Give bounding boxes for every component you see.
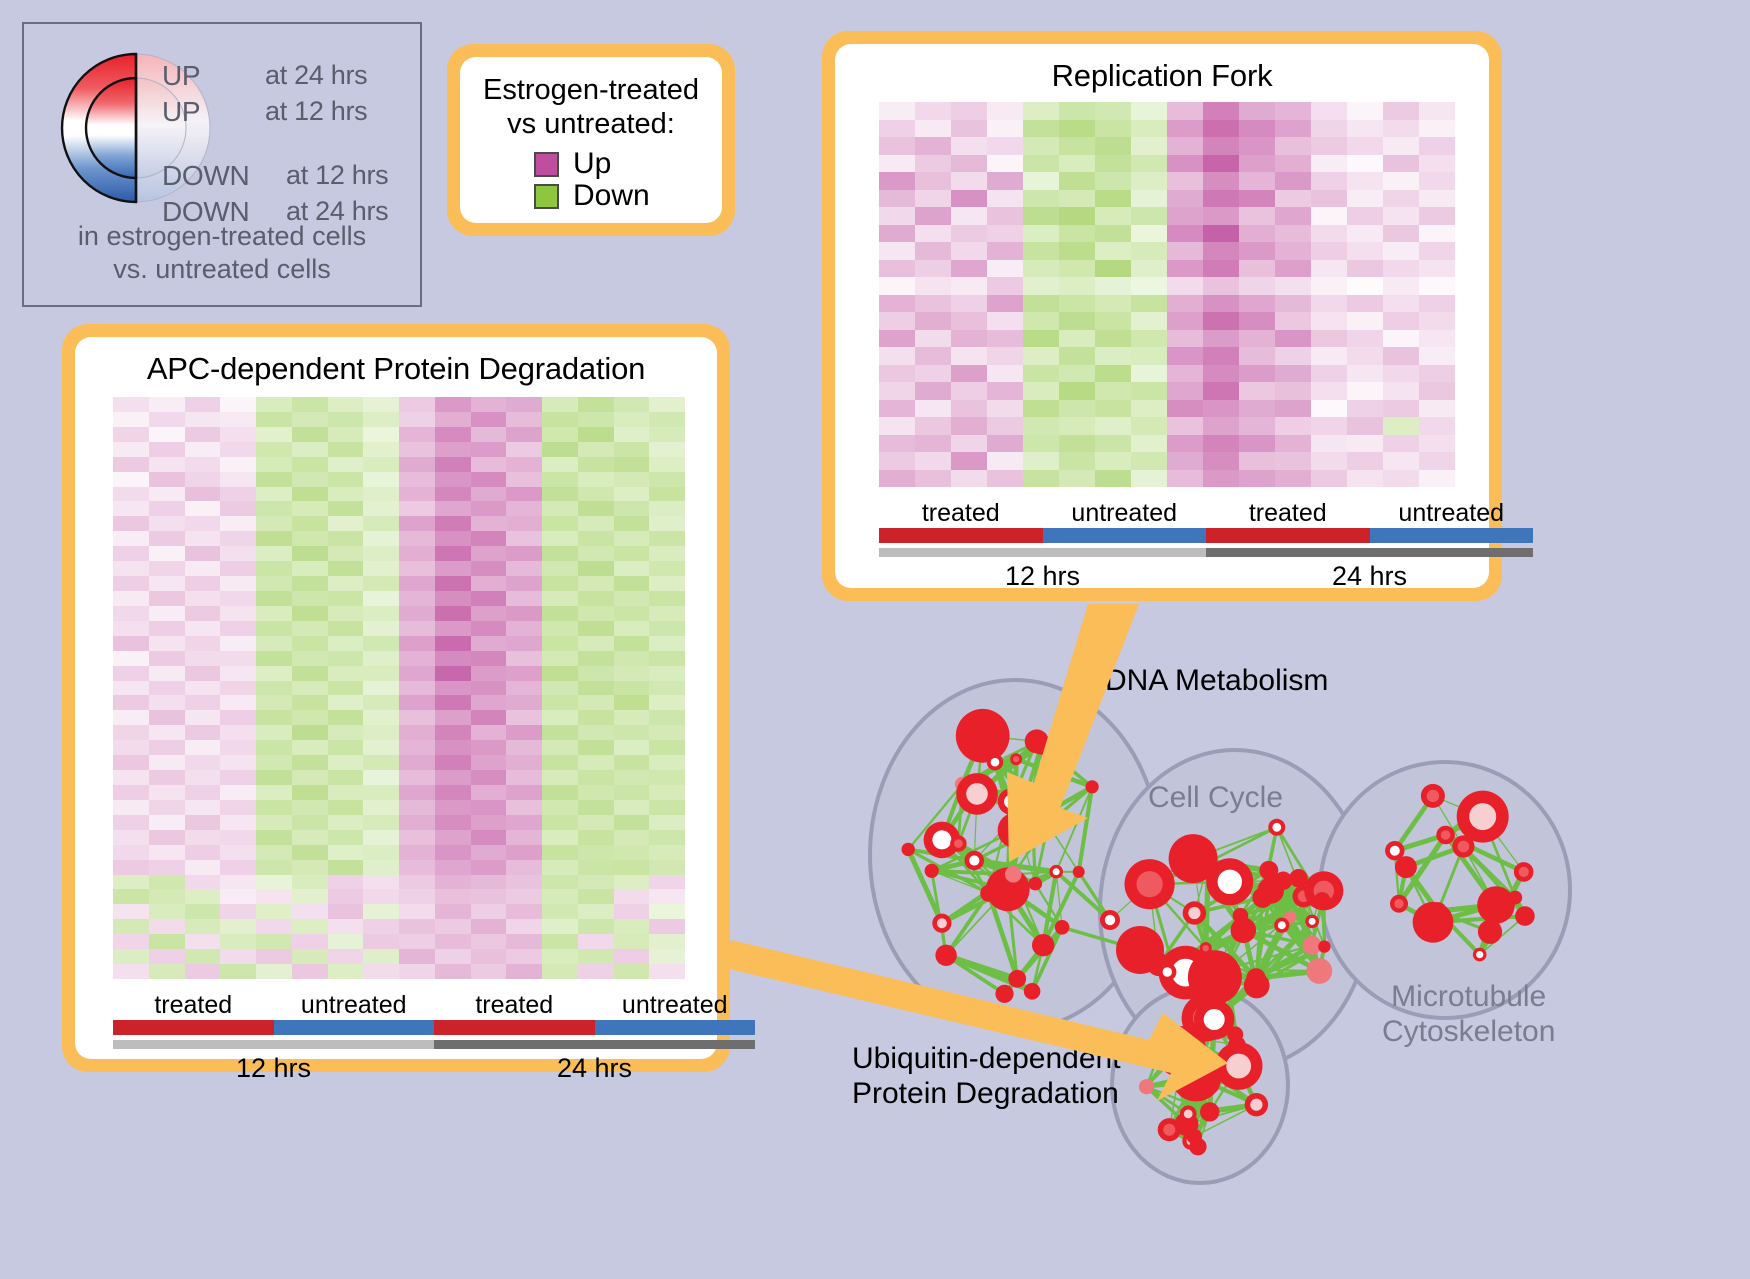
heatmap-cell — [951, 295, 987, 313]
color-key-footer: in estrogen-treated cells vs. untreated … — [24, 220, 420, 286]
heatmap-cell — [1419, 137, 1455, 155]
heatmap-cell — [328, 949, 364, 964]
up-swatch-icon — [534, 152, 559, 177]
heatmap-cell — [987, 365, 1023, 383]
heatmap-cell — [506, 427, 542, 442]
heatmap-cell — [1131, 172, 1167, 190]
heatmap-cell — [951, 172, 987, 190]
heatmap-cell — [1095, 452, 1131, 470]
heatmap-cell — [1311, 312, 1347, 330]
heatmap-cell — [328, 621, 364, 636]
heatmap-cell — [1059, 120, 1095, 138]
heatmap-cell — [363, 651, 399, 666]
network-node-core — [1427, 790, 1439, 802]
heatmap-cell — [578, 546, 614, 561]
heatmap-cell — [1131, 365, 1167, 383]
heatmap-cell — [113, 949, 149, 964]
heatmap-cell — [149, 636, 185, 651]
heatmap-cell — [578, 621, 614, 636]
heatmap-cell — [879, 172, 915, 190]
heatmap-cell — [292, 740, 328, 755]
heatmap-cell — [328, 904, 364, 919]
heatmap-cell — [915, 137, 951, 155]
heatmap-cell — [987, 417, 1023, 435]
heatmap-cell — [1059, 382, 1095, 400]
heatmap-cell — [399, 397, 435, 412]
heatmap-cell — [649, 457, 685, 472]
heatmap-cell — [1023, 260, 1059, 278]
heatmap-cell — [1419, 417, 1455, 435]
heatmap-cell — [915, 417, 951, 435]
heatmap-cell — [506, 800, 542, 815]
cluster-label-dna-metabolism: DNA Metabolism — [1105, 664, 1328, 699]
heatmap-cell — [435, 591, 471, 606]
heatmap-cell — [292, 412, 328, 427]
heatmap-cell — [399, 949, 435, 964]
network-node-core — [1441, 830, 1451, 840]
heatmap-cell — [915, 207, 951, 225]
heatmap-cell — [185, 442, 221, 457]
heatmap-cell — [1239, 365, 1275, 383]
heatmap-cell — [1275, 155, 1311, 173]
heatmap-cell — [1239, 172, 1275, 190]
network-node — [995, 985, 1013, 1003]
heatmap-cell — [506, 606, 542, 621]
treatment-label-1: untreated — [1043, 499, 1207, 528]
time-bar-1 — [1206, 548, 1533, 557]
heatmap-cell — [1383, 102, 1419, 120]
heatmap-cell — [1203, 312, 1239, 330]
heatmap-cell — [363, 934, 399, 949]
heatmap-cell — [435, 412, 471, 427]
heatmap-cell — [363, 606, 399, 621]
heatmap-cell — [578, 651, 614, 666]
heatmap-cell — [614, 487, 650, 502]
heatmap-cell — [113, 651, 149, 666]
heatmap-cell — [987, 260, 1023, 278]
heatmap-cell — [1383, 330, 1419, 348]
heatmap-cell — [879, 382, 915, 400]
heatmap-cell — [185, 875, 221, 890]
heatmap-cell — [256, 785, 292, 800]
heatmap-cell — [578, 681, 614, 696]
heatmap-cell — [614, 427, 650, 442]
heatmap-cell — [363, 487, 399, 502]
heatmap-cell — [435, 934, 471, 949]
heatmap-cell — [149, 695, 185, 710]
network-node-core — [1218, 870, 1242, 894]
heatmap-cell — [113, 666, 149, 681]
heatmap-cell — [256, 442, 292, 457]
heatmap-cell — [1023, 277, 1059, 295]
heatmap-cell — [1203, 365, 1239, 383]
heatmap-cell — [915, 120, 951, 138]
time-labels-apc: 12 hrs 24 hrs — [113, 1053, 755, 1084]
heatmap-cell — [471, 934, 507, 949]
heatmap-cell — [1203, 225, 1239, 243]
heatmap-cell — [578, 501, 614, 516]
heatmap-cell — [649, 412, 685, 427]
heatmap-cell — [1383, 120, 1419, 138]
heatmap-cell — [879, 295, 915, 313]
heatmap-cell — [1347, 330, 1383, 348]
heatmap-cell — [292, 710, 328, 725]
treatment-label-2: treated — [434, 991, 595, 1020]
heatmap-cell — [363, 860, 399, 875]
heatmap-cell — [506, 710, 542, 725]
heatmap-cell — [1239, 295, 1275, 313]
heatmap-cell — [614, 845, 650, 860]
heatmap-cell — [328, 546, 364, 561]
heatmap-cell — [220, 681, 256, 696]
heatmap-cell — [363, 755, 399, 770]
heatmap-cell — [951, 277, 987, 295]
heatmap-cell — [113, 681, 149, 696]
heatmap-cell — [185, 904, 221, 919]
heatmap-cell — [363, 561, 399, 576]
heatmap-cell — [614, 875, 650, 890]
heatmap-cell — [506, 875, 542, 890]
heatmap-cell — [1059, 347, 1095, 365]
heatmap-cell — [220, 666, 256, 681]
heatmap-cell — [1023, 190, 1059, 208]
heatmap-cell — [542, 442, 578, 457]
heatmap-cell — [399, 875, 435, 890]
heatmap-cell — [292, 546, 328, 561]
heatmap-cell — [399, 501, 435, 516]
heatmap-cell — [113, 412, 149, 427]
heatmap-cell — [542, 964, 578, 979]
key-time-0: at 24 hrs — [265, 60, 367, 91]
heatmap-cell — [328, 636, 364, 651]
heatmap-cell — [1239, 470, 1275, 488]
heatmap-cell — [1167, 225, 1203, 243]
heatmap-cell — [399, 487, 435, 502]
heatmap-cell — [149, 830, 185, 845]
heatmap-cell — [471, 815, 507, 830]
heatmap-cell — [292, 516, 328, 531]
heatmap-cell — [363, 636, 399, 651]
heatmap-cell — [649, 964, 685, 979]
heatmap-cell — [1131, 207, 1167, 225]
heatmap-cell — [471, 845, 507, 860]
heatmap-cell — [113, 636, 149, 651]
heatmap-cell — [435, 875, 471, 890]
heatmap-cell — [951, 312, 987, 330]
heatmap-cell — [915, 260, 951, 278]
heatmap-cell — [649, 621, 685, 636]
heatmap-cell — [1203, 417, 1239, 435]
heatmap-cell — [1131, 347, 1167, 365]
heatmap-cell — [220, 412, 256, 427]
heatmap-cell — [1383, 190, 1419, 208]
heatmap-cell — [149, 576, 185, 591]
heatmap-cell — [1131, 417, 1167, 435]
heatmap-cell — [220, 755, 256, 770]
time-bar-1 — [434, 1040, 755, 1049]
heatmap-cell — [435, 755, 471, 770]
heatmap-cell — [1059, 225, 1095, 243]
heatmap-cell — [363, 785, 399, 800]
heatmap-cell — [915, 312, 951, 330]
heatmap-cell — [987, 382, 1023, 400]
treatment-bar-0 — [879, 528, 1043, 543]
key-time-1: at 12 hrs — [265, 96, 367, 127]
treatment-bar-3 — [1370, 528, 1534, 543]
heatmap-cell — [471, 487, 507, 502]
heatmap-cell — [951, 207, 987, 225]
heatmap-cell — [614, 710, 650, 725]
heatmap-cell — [435, 606, 471, 621]
treatment-labels-replication: treated untreated treated untreated — [879, 499, 1533, 528]
heatmap-cell — [506, 860, 542, 875]
heatmap-cell — [614, 621, 650, 636]
heatmap-cell — [1347, 382, 1383, 400]
heatmap-cell — [649, 725, 685, 740]
network-node — [1171, 1051, 1222, 1102]
heatmap-cell — [256, 412, 292, 427]
heatmap-cell — [435, 949, 471, 964]
heatmap-cell — [1167, 435, 1203, 453]
network-node — [1073, 866, 1085, 878]
heatmap-cell — [220, 487, 256, 502]
heatmap-cell — [292, 397, 328, 412]
heatmap-cell — [649, 904, 685, 919]
heatmap-cell — [1023, 155, 1059, 173]
heatmap-cell — [1275, 347, 1311, 365]
network-node-core — [969, 855, 979, 865]
heatmap-cell — [649, 516, 685, 531]
heatmap-cell — [1239, 137, 1275, 155]
heatmap-cell — [113, 785, 149, 800]
heatmap-cell — [399, 889, 435, 904]
heatmap-cell — [1347, 295, 1383, 313]
heatmap-cell — [292, 606, 328, 621]
heatmap-cell — [1311, 382, 1347, 400]
heatmap-cell — [1419, 190, 1455, 208]
treatment-labels-apc: treated untreated treated untreated — [113, 991, 755, 1020]
heatmap-cell — [292, 457, 328, 472]
heatmap-cell — [256, 889, 292, 904]
heatmap-cell — [1095, 312, 1131, 330]
heatmap-cell — [951, 242, 987, 260]
heatmap-cell — [1347, 452, 1383, 470]
heatmap-cell — [149, 472, 185, 487]
heatmap-cell — [399, 472, 435, 487]
heatmap-cell — [1347, 470, 1383, 488]
heatmap-cell — [220, 561, 256, 576]
heatmap-cell — [879, 242, 915, 260]
heatmap-cell — [951, 330, 987, 348]
heatmap-cell — [292, 755, 328, 770]
heatmap-cell — [328, 606, 364, 621]
time-label-0: 12 hrs — [113, 1053, 434, 1084]
heatmap-cell — [185, 531, 221, 546]
heatmap-cell — [256, 964, 292, 979]
heatmap-cell — [1419, 435, 1455, 453]
heatmap-cell — [1419, 452, 1455, 470]
heatmap-cell — [987, 225, 1023, 243]
heatmap-cell — [149, 800, 185, 815]
heatmap-cell — [1095, 277, 1131, 295]
heatmap-cell — [578, 591, 614, 606]
network-node-core — [1137, 871, 1163, 897]
heatmap-cell — [614, 860, 650, 875]
heatmap-cell — [1347, 137, 1383, 155]
heatmap-cell — [256, 487, 292, 502]
heatmap-cell — [614, 636, 650, 651]
heatmap-cell — [542, 755, 578, 770]
heatmap-cell — [1203, 137, 1239, 155]
heatmap-cell — [879, 417, 915, 435]
heatmap-cell — [220, 800, 256, 815]
heatmap-cell — [1419, 400, 1455, 418]
heatmap-cell — [256, 531, 292, 546]
heatmap-cell — [1239, 190, 1275, 208]
heatmap-cell — [1203, 102, 1239, 120]
heatmap-cell — [1383, 312, 1419, 330]
heatmap-cell — [1239, 102, 1275, 120]
heatmap-cell — [542, 740, 578, 755]
heatmap-cell — [256, 606, 292, 621]
heatmap-cell — [471, 875, 507, 890]
network-node — [902, 843, 915, 856]
heatmap-cell — [435, 561, 471, 576]
heatmap-cell — [1275, 242, 1311, 260]
treatment-bar-1 — [1043, 528, 1207, 543]
heatmap-cell — [328, 397, 364, 412]
heatmap-cell — [1239, 435, 1275, 453]
heatmap-cell — [220, 785, 256, 800]
network-node — [1187, 1129, 1202, 1144]
heatmap-cell — [951, 260, 987, 278]
heatmap-cell — [471, 442, 507, 457]
heatmap-cell — [220, 770, 256, 785]
heatmap-cell — [256, 725, 292, 740]
heatmap-cell — [1275, 435, 1311, 453]
heatmap-cell — [951, 120, 987, 138]
heatmap-cell — [649, 576, 685, 591]
heatmap-cell — [256, 636, 292, 651]
heatmap-cell — [542, 606, 578, 621]
network-node — [998, 813, 1034, 849]
heatmap-cell — [1275, 102, 1311, 120]
network-node-core — [1188, 907, 1200, 919]
heatmap-cell — [113, 710, 149, 725]
key-time-2: at 12 hrs — [286, 160, 388, 191]
heatmap-cell — [879, 365, 915, 383]
treatment-color-bar-apc — [113, 1020, 755, 1035]
heatmap-cell — [149, 964, 185, 979]
heatmap-cell — [506, 919, 542, 934]
heatmap-cell — [649, 695, 685, 710]
heatmap-cell — [1311, 242, 1347, 260]
heatmap-cell — [1131, 470, 1167, 488]
heatmap-cell — [399, 457, 435, 472]
heatmap-cell — [879, 330, 915, 348]
treatment-label-3: untreated — [595, 991, 756, 1020]
heatmap-cell — [951, 382, 987, 400]
heatmap-cell — [578, 576, 614, 591]
panel-title-replication-fork: Replication Fork — [835, 44, 1489, 94]
heatmap-cell — [471, 695, 507, 710]
heatmap-cell — [1059, 295, 1095, 313]
network-node — [1139, 1079, 1154, 1094]
heatmap-cell — [149, 755, 185, 770]
heatmap-cell — [1347, 365, 1383, 383]
heatmap-cell — [578, 964, 614, 979]
heatmap-cell — [1131, 435, 1167, 453]
heatmap-cell — [292, 442, 328, 457]
heatmap-cell — [113, 591, 149, 606]
network-node-core — [1163, 1124, 1175, 1136]
heatmap-cell — [649, 651, 685, 666]
heatmap-cell — [915, 365, 951, 383]
heatmap-cell — [578, 487, 614, 502]
heatmap-cell — [987, 172, 1023, 190]
heatmap-cell — [1203, 242, 1239, 260]
heatmap-cell — [1095, 365, 1131, 383]
heatmap-cell — [1095, 242, 1131, 260]
heatmap-cell — [363, 397, 399, 412]
heatmap-cell — [1239, 330, 1275, 348]
heatmap-cell — [649, 845, 685, 860]
heatmap-cell — [149, 785, 185, 800]
heatmap-cell — [256, 681, 292, 696]
time-label-0: 12 hrs — [879, 561, 1206, 592]
heatmap-cell — [328, 725, 364, 740]
heatmap-cell — [1419, 242, 1455, 260]
heatmap-cell — [399, 681, 435, 696]
heatmap-cell — [399, 904, 435, 919]
heatmap-cell — [256, 830, 292, 845]
heatmap-cell — [149, 845, 185, 860]
heatmap-cell — [292, 845, 328, 860]
heatmap-cell — [328, 516, 364, 531]
heatmap-cell — [506, 472, 542, 487]
heatmap-cell — [1167, 277, 1203, 295]
heatmap-cell — [879, 347, 915, 365]
heatmap-cell — [879, 137, 915, 155]
heatmap-cell — [542, 516, 578, 531]
heatmap-cell — [879, 102, 915, 120]
heatmap-cell — [292, 501, 328, 516]
network-node-core — [1278, 921, 1286, 929]
heatmap-cell — [399, 621, 435, 636]
heatmap-cell — [614, 457, 650, 472]
network-node-core — [1184, 1110, 1193, 1119]
heatmap-cell — [363, 681, 399, 696]
treatment-bar-2 — [434, 1020, 595, 1035]
heatmap-cell — [1167, 312, 1203, 330]
heatmap-cell — [471, 785, 507, 800]
heatmap-cell — [220, 934, 256, 949]
heatmap-cell — [113, 770, 149, 785]
heatmap-cell — [1419, 172, 1455, 190]
network-node — [1200, 1102, 1219, 1121]
heatmap-cell — [578, 934, 614, 949]
heatmap-cell — [149, 815, 185, 830]
heatmap-cell — [292, 815, 328, 830]
heatmap-cell — [363, 472, 399, 487]
heatmap-cell — [1203, 295, 1239, 313]
heatmap-cell — [1023, 172, 1059, 190]
heatmap-cell — [399, 830, 435, 845]
heatmap-cell — [1383, 277, 1419, 295]
heatmap-cell — [1347, 435, 1383, 453]
heatmap-cell — [1059, 400, 1095, 418]
heatmap-cell — [649, 561, 685, 576]
